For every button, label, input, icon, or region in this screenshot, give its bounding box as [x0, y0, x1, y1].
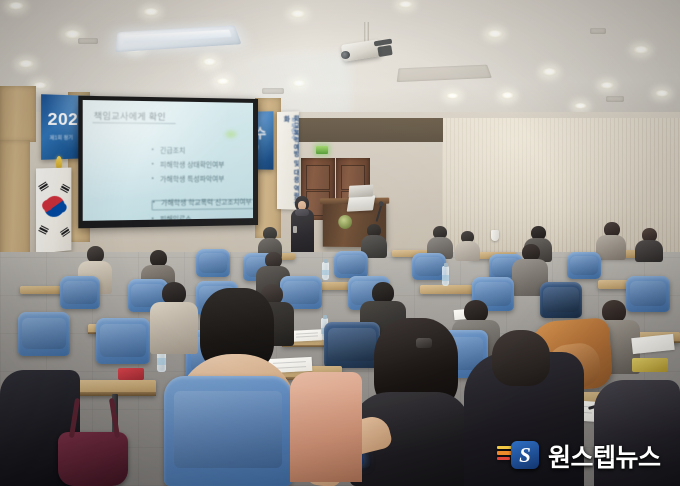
ceiling-downlight [655, 90, 669, 97]
taeguk-symbol-icon [40, 192, 68, 221]
banner-left-subtitle: 제1회 정기 [50, 134, 73, 142]
light-tube [124, 29, 232, 43]
flag-cloth [36, 168, 71, 254]
bottle-label [322, 270, 329, 275]
projection-screen: 책임교사에게 확인 긴급조치 피해학생 상태확인여부 가해학생 특성파악여부 가… [78, 96, 258, 229]
laptop-lid [349, 185, 374, 198]
slide-bullet-list: 긴급조치 피해학생 상태확인여부 가해학생 특성파악여부 가해학생 학교폭력 신… [109, 148, 245, 220]
snack-box [118, 368, 144, 380]
ceiling-downlight [487, 30, 503, 38]
ceiling-downlight [143, 8, 159, 16]
bottle-label [157, 358, 166, 365]
paper-cup [491, 230, 499, 241]
water-bottle [442, 266, 449, 286]
ceiling-downlight [446, 93, 459, 99]
chair[interactable] [196, 249, 230, 277]
handbag [58, 432, 128, 486]
door-panel [306, 165, 331, 189]
chair[interactable] [60, 276, 100, 309]
ceiling-downlight [18, 60, 34, 68]
ceiling-downlight [8, 2, 24, 10]
chair[interactable] [334, 251, 368, 278]
presenter [290, 196, 316, 258]
banner-left-year-text: 202 [48, 109, 79, 130]
slide-green-highlight [223, 129, 239, 140]
vertical-banner-line2: 직무연수 [289, 117, 297, 140]
paper-line [296, 335, 318, 337]
slide-bullet: 긴급조치 [152, 149, 245, 156]
slide-bullet-highlighted: 가해학생 학교폭력 신고조치여부 [152, 199, 253, 210]
projected-slide: 책임교사에게 확인 긴급조치 피해학생 상태확인여부 가해학생 특성파악여부 가… [83, 100, 253, 221]
upper-wall-band [281, 118, 443, 142]
slide-bullet: 피해학생 상태확인여부 [152, 163, 245, 170]
chair[interactable] [96, 318, 150, 364]
podium-emblem [338, 215, 352, 229]
projector-rear-block [377, 45, 392, 57]
chair[interactable] [567, 252, 601, 279]
attendee-body [455, 241, 480, 261]
lunch-box [632, 358, 668, 372]
vertical-banner: 학교폭력예방 및 대응 역량강화 직무연수 [277, 111, 299, 210]
seminar-room-photo: 202 제1회 정기 연수 교육지원 학교폭력예방 및 대응 역량강화 직무연수… [0, 0, 680, 486]
trigram-geon-icon [38, 181, 49, 191]
attendee [596, 222, 626, 260]
salmon-coat [290, 372, 362, 482]
ceiling-downlight [501, 92, 514, 99]
slide-title-underline [93, 122, 176, 124]
ceiling-vent [78, 38, 98, 44]
trigram-gon-icon [60, 227, 70, 237]
presenter-laptop [347, 195, 376, 211]
ceiling-downlight [292, 80, 306, 87]
watermark: S 원스텝뉴스 [497, 438, 661, 474]
trigram-ri-icon [38, 225, 49, 234]
paper-line [295, 332, 317, 334]
chair[interactable] [18, 312, 70, 356]
handout-paper [292, 329, 323, 342]
desk [420, 285, 476, 294]
attendee-body [635, 240, 663, 262]
ceiling-downlight [290, 10, 306, 18]
attendee [455, 231, 480, 261]
attendee [635, 228, 663, 262]
slide-bullet: 피해입로소 [152, 216, 245, 221]
chair-foreground[interactable] [164, 376, 292, 486]
ceiling-downlight [633, 46, 649, 54]
ceiling-vent [262, 88, 284, 94]
bottle-label [442, 275, 449, 281]
attendee-head-right [492, 330, 550, 386]
ceiling-downlight [542, 68, 557, 76]
ceiling-vent [590, 28, 606, 34]
watermark-brand-name: 원스텝뉴스 [548, 438, 661, 474]
water-bottle [322, 262, 329, 280]
ceiling-projector [338, 22, 404, 70]
ceiling-downlight [202, 58, 217, 66]
watermark-logo-mark: S [497, 439, 543, 473]
watermark-s-letter: S [519, 445, 531, 466]
chair[interactable] [540, 282, 582, 318]
slide-bullet: 가해학생 특성파악여부 [152, 177, 245, 185]
ceiling-downlight [216, 78, 230, 85]
emergency-exit-sign-icon [316, 146, 328, 154]
chair[interactable] [412, 253, 446, 280]
ceiling-vent [606, 96, 624, 102]
korean-flag [30, 160, 74, 256]
ceiling-downlight [600, 82, 614, 89]
wood-wall-left [0, 140, 30, 270]
presenter-body [291, 209, 314, 258]
trigram-gam-icon [60, 184, 70, 193]
projector-lens [341, 51, 350, 59]
ceiling-downlight [574, 103, 587, 109]
watermark-s-badge-icon: S [511, 441, 539, 469]
slide-title: 책임교사에게 확인 [94, 110, 166, 123]
presenter-nametag [293, 226, 297, 233]
wood-wall-upper-left [0, 86, 36, 142]
presenter-collar [295, 209, 309, 216]
attendee-hair-clip-icon [416, 338, 432, 348]
ceiling-downlight [398, 1, 413, 8]
